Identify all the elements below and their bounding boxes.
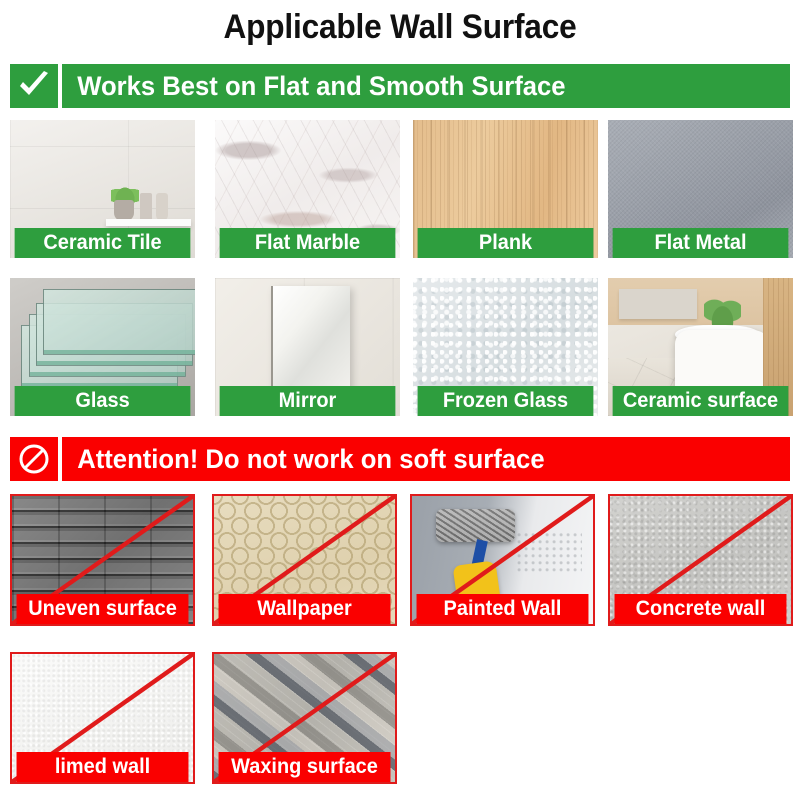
surface-label: Plank: [418, 228, 594, 258]
avoid-label: Concrete wall: [615, 594, 787, 624]
surface-cell-mirror: Mirror: [215, 278, 400, 416]
surface-label: Flat Metal: [613, 228, 789, 258]
page-title: Applicable Wall Surface: [28, 8, 772, 47]
surface-label: Ceramic Tile: [15, 228, 191, 258]
surface-cell-plank: Plank: [413, 120, 598, 258]
surface-cell-glass: Glass: [10, 278, 195, 416]
avoid-cell-waxing-surface: Waxing surface: [212, 652, 397, 784]
avoid-cell-wallpaper: Wallpaper: [212, 494, 397, 626]
avoid-label: Painted Wall: [417, 594, 589, 624]
avoid-label: Wallpaper: [219, 594, 391, 624]
surface-cell-flat-marble: Flat Marble: [215, 120, 400, 258]
bad-banner-bar: Attention! Do not work on soft surface: [62, 437, 790, 481]
prohibition-icon: [10, 437, 58, 481]
surface-cell-ceramic-tile: Ceramic Tile: [10, 120, 195, 258]
surface-cell-flat-metal: Flat Metal: [608, 120, 793, 258]
good-surfaces-banner: Works Best on Flat and Smooth Surface: [10, 64, 790, 108]
surface-cell-ceramic-surface: Ceramic surface: [608, 278, 793, 416]
infographic-page: Applicable Wall Surface Works Best on Fl…: [0, 0, 800, 800]
surface-label: Frozen Glass: [418, 386, 594, 416]
surface-cell-frozen-glass: Frozen Glass: [413, 278, 598, 416]
avoid-label: Waxing surface: [219, 752, 391, 782]
surface-label: Glass: [15, 386, 191, 416]
check-icon: [10, 64, 58, 108]
avoid-label: limed wall: [17, 752, 189, 782]
avoid-cell-concrete-wall: Concrete wall: [608, 494, 793, 626]
surface-label: Flat Marble: [220, 228, 396, 258]
surface-label: Ceramic surface: [613, 386, 789, 416]
avoid-label: Uneven surface: [17, 594, 189, 624]
bad-banner-label: Attention! Do not work on soft surface: [62, 444, 545, 475]
avoid-cell-uneven-surface: Uneven surface: [10, 494, 195, 626]
avoid-cell-limed-wall: limed wall: [10, 652, 195, 784]
good-banner-label: Works Best on Flat and Smooth Surface: [62, 71, 566, 102]
surface-label: Mirror: [220, 386, 396, 416]
good-banner-bar: Works Best on Flat and Smooth Surface: [62, 64, 790, 108]
bad-surfaces-banner: Attention! Do not work on soft surface: [10, 437, 790, 481]
avoid-cell-painted-wall: Painted Wall: [410, 494, 595, 626]
